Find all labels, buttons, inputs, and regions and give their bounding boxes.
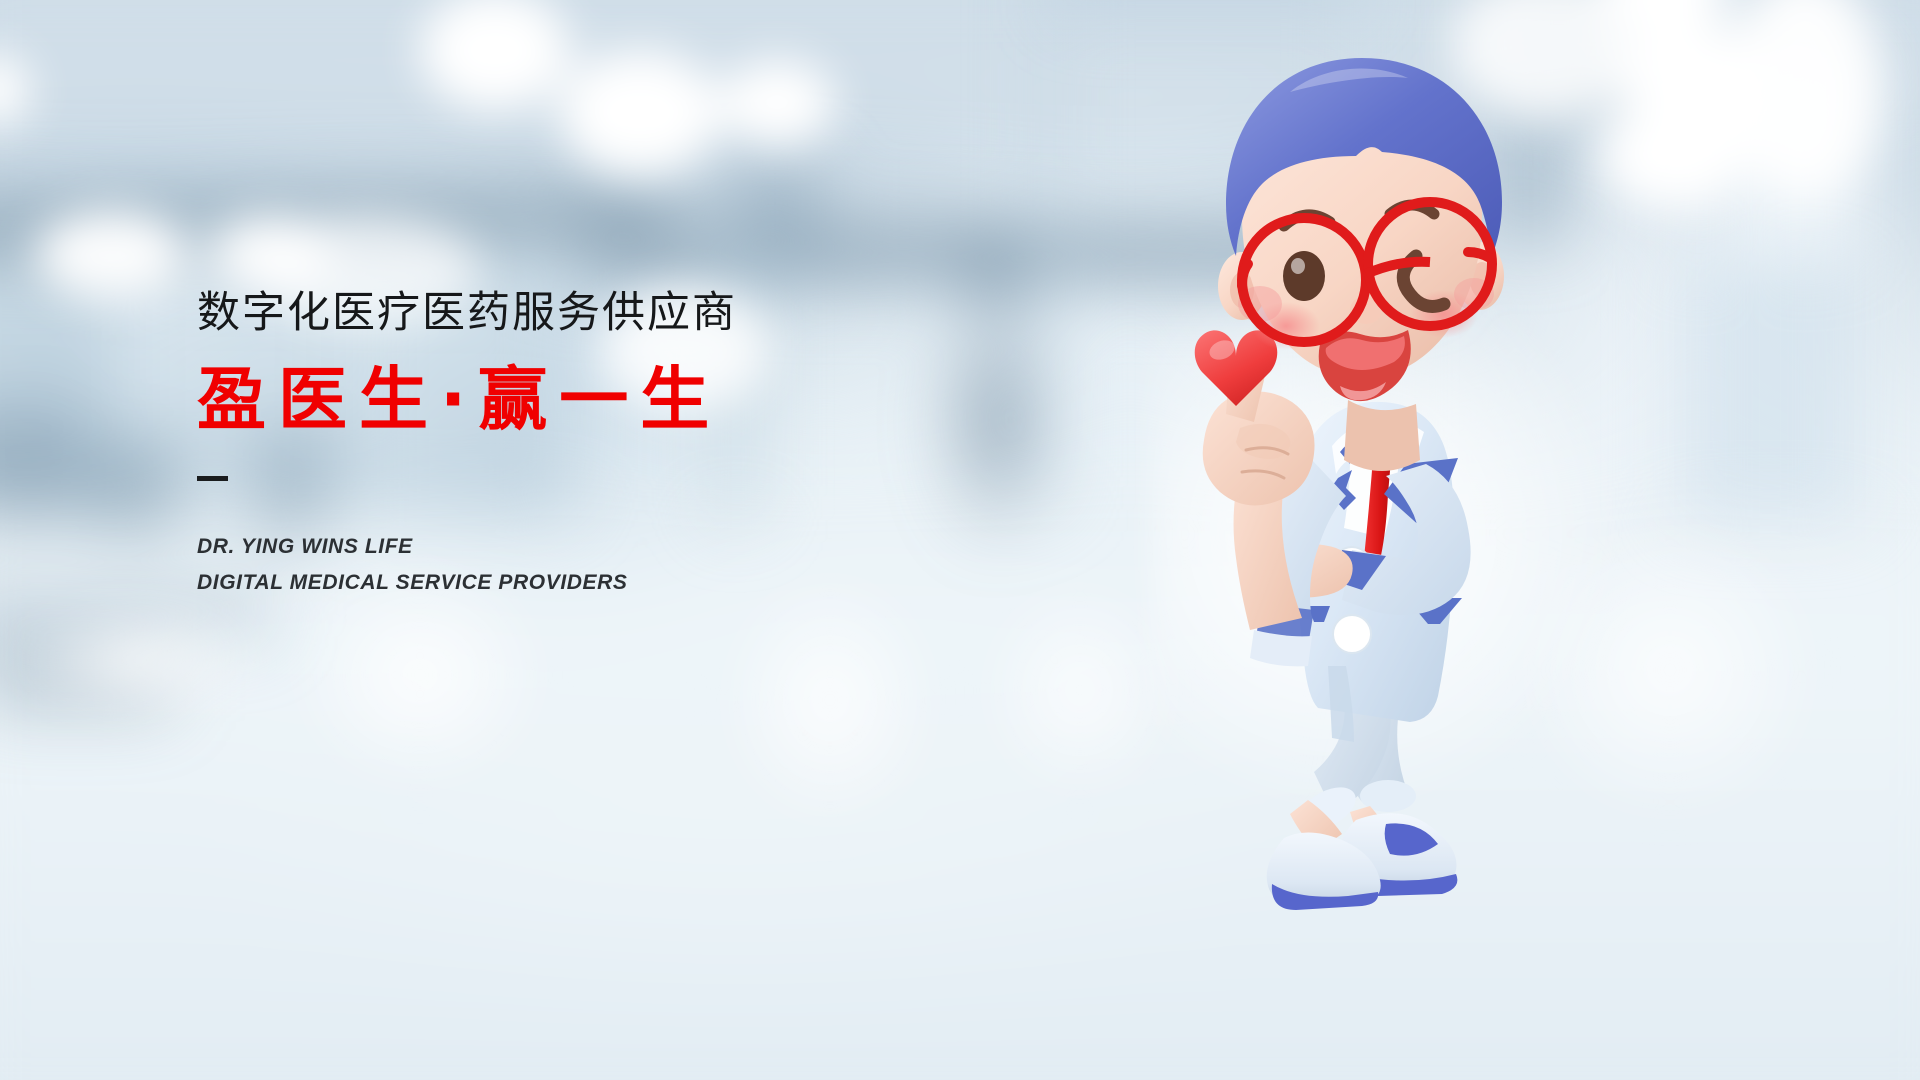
bokeh-light-1 [420,0,570,110]
open-eye-icon [1283,251,1325,301]
banner-stage: 数字化医疗医药服务供应商 盈医生·赢一生 DR. YING WINS LIFE … [0,0,1920,1080]
floor-reflection-3 [720,570,940,830]
subtitle-english: DR. YING WINS LIFE DIGITAL MEDICAL SERVI… [197,529,957,601]
floor-reflection-1 [10,600,270,720]
doctor-mascot-illustration [1180,48,1600,848]
subtitle-line-1: DR. YING WINS LIFE [197,529,957,565]
subtitle-line-2: DIGITAL MEDICAL SERVICE PROVIDERS [197,565,957,601]
bokeh-light-13 [1730,0,1880,200]
bokeh-light-2 [560,50,720,175]
main-title-chinese: 盈医生·赢一生 [197,363,957,438]
bokeh-light-7 [720,60,835,145]
bokeh-light-8 [35,210,185,300]
banner-text-block: 数字化医疗医药服务供应商 盈医生·赢一生 DR. YING WINS LIFE … [197,289,957,601]
neck [1344,400,1420,471]
bokeh-light-3 [0,55,30,125]
glasses-temple-right [1468,252,1490,258]
title-divider [197,476,228,481]
headline-chinese: 数字化医疗医药服务供应商 [197,289,957,337]
eye-highlight [1291,258,1305,274]
bokeh-light-6 [1600,100,1750,210]
coat-button-bottom [1333,615,1371,653]
floor-reflection-4 [980,580,1180,800]
